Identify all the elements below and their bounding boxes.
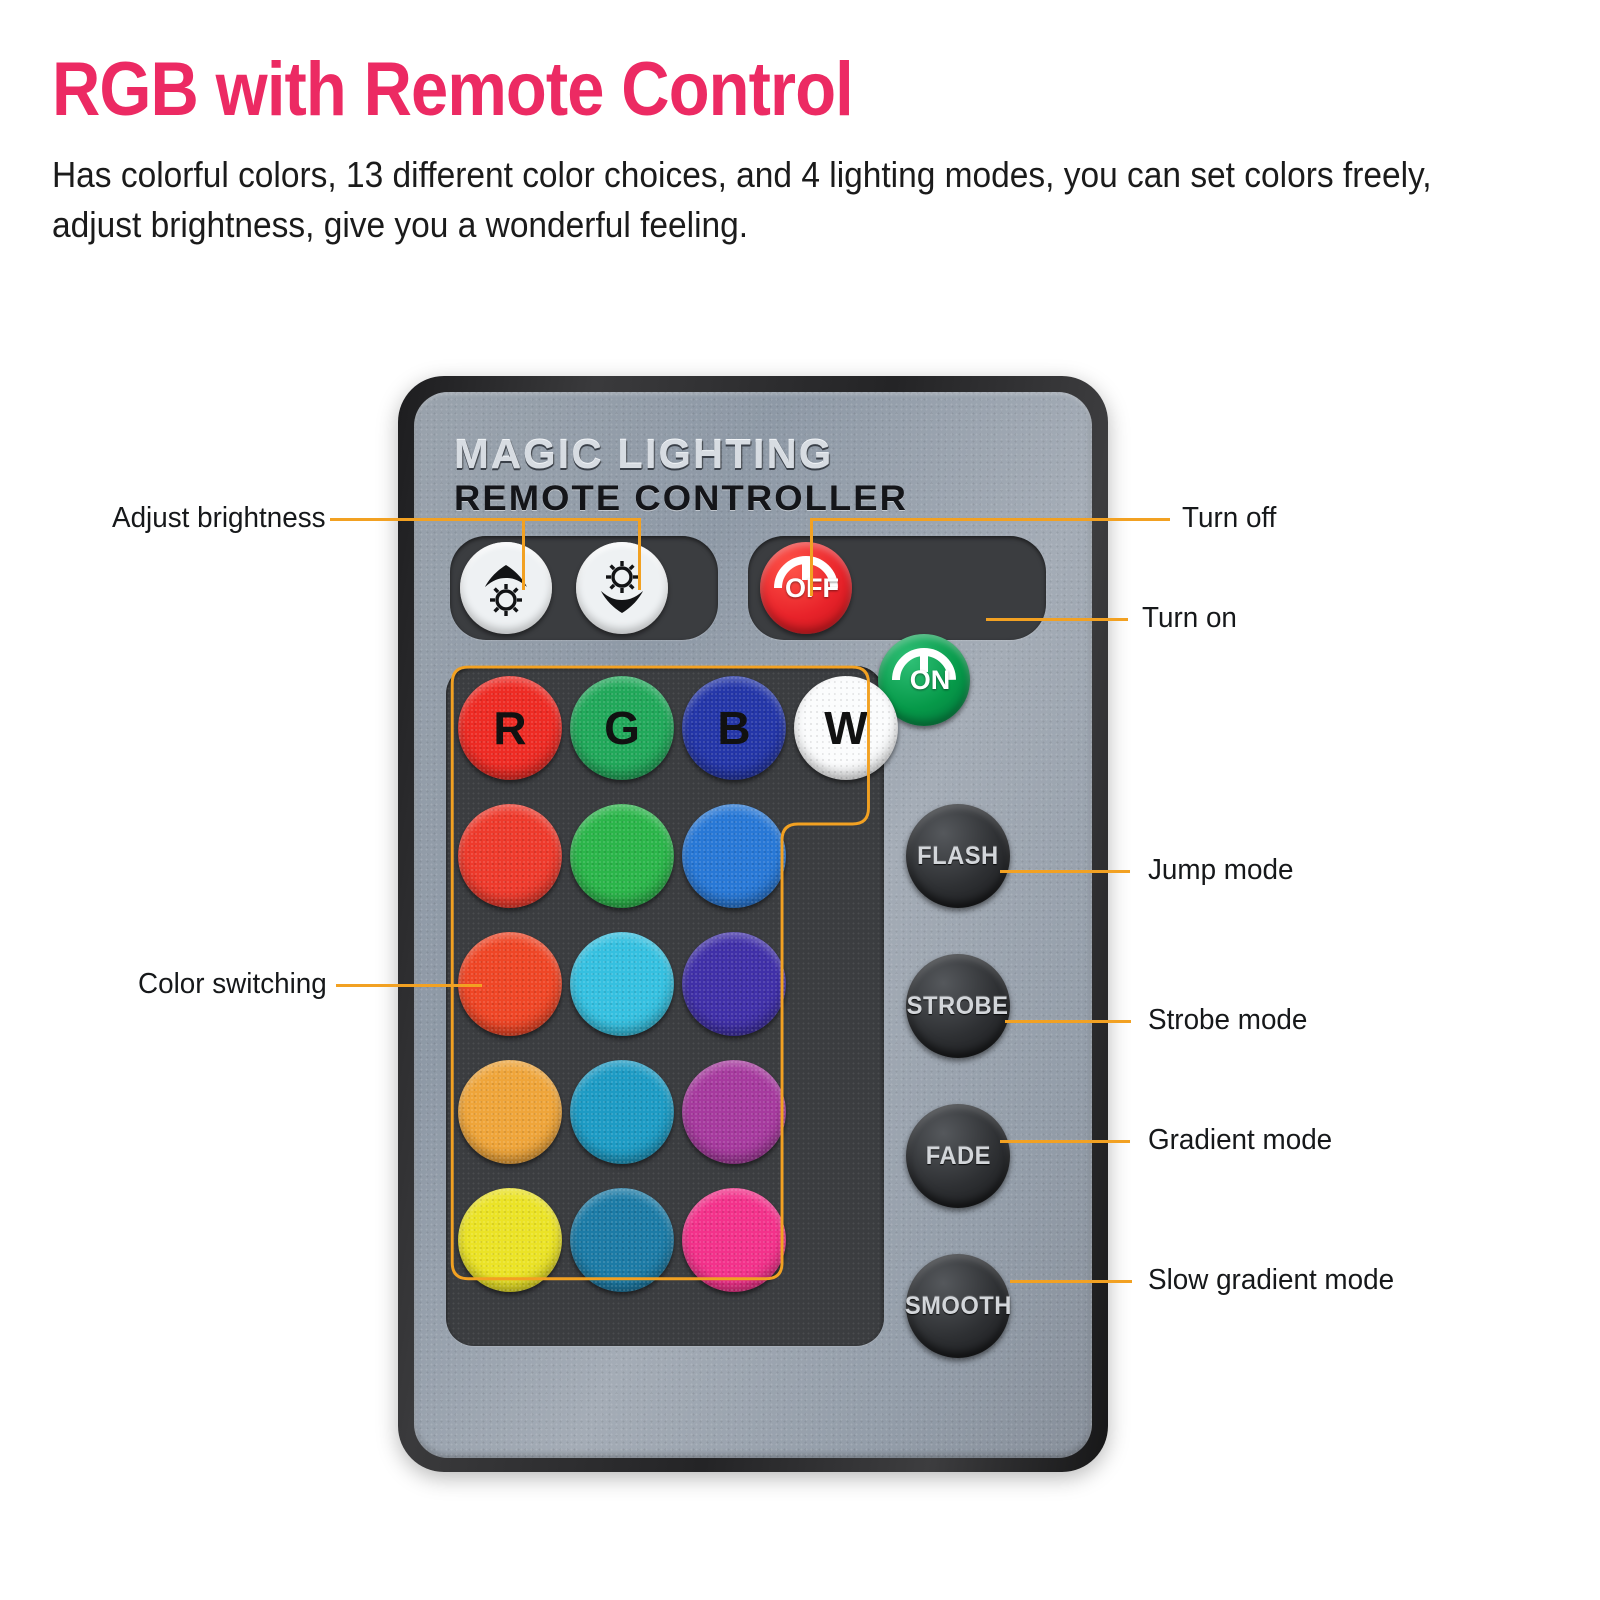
leader-adjust-brightness [330, 518, 640, 521]
annotation-strobe-mode: Strobe mode [1148, 1004, 1307, 1037]
mode-key-fade[interactable]: FADE [906, 1104, 1010, 1208]
remote-control-device: MAGIC LIGHTING REMOTE CONTROLLER [398, 376, 1108, 1472]
mode-key-strobe[interactable]: STROBE [906, 954, 1010, 1058]
mode-key-label: STROBE [907, 992, 1009, 1021]
power-off-button[interactable]: OFF [760, 542, 852, 634]
leader-slow-gradient-mode [1010, 1280, 1132, 1283]
leader-jump-mode [1000, 870, 1130, 873]
annotation-color-switching: Color switching [138, 968, 327, 1001]
mode-key-label: FLASH [917, 842, 999, 871]
brightness-down-button[interactable] [576, 542, 668, 634]
annotation-jump-mode: Jump mode [1148, 854, 1293, 887]
mode-key-label: FADE [925, 1142, 990, 1171]
leader-turn-off [810, 518, 1170, 521]
leader-turn-on [986, 618, 1128, 621]
brand-line-remote-controller: REMOTE CONTROLLER [454, 479, 908, 519]
header-block: RGB with Remote Control Has colorful col… [52, 48, 1532, 250]
annotation-adjust-brightness: Adjust brightness [112, 502, 326, 535]
leader-gradient-mode [1000, 1140, 1130, 1143]
leader-strobe-mode [1005, 1020, 1131, 1023]
annotation-turn-on: Turn on [1142, 602, 1237, 635]
brand-line-magic-lighting: MAGIC LIGHTING [454, 432, 899, 476]
page-subtitle: Has colorful colors, 13 different color … [52, 150, 1503, 250]
leader-adjust-brightness-drop1 [522, 518, 525, 590]
annotation-slow-gradient-mode: Slow gradient mode [1148, 1264, 1394, 1297]
annotation-gradient-mode: Gradient mode [1148, 1124, 1332, 1157]
brightness-up-button[interactable] [460, 542, 552, 634]
leader-turn-off-drop [810, 518, 813, 596]
brightness-up-icon [471, 553, 541, 623]
color-switching-highlight [434, 654, 886, 1286]
mode-key-flash[interactable]: FLASH [906, 804, 1010, 908]
mode-key-smooth[interactable]: SMOOTH [906, 1254, 1010, 1358]
mode-key-label: SMOOTH [904, 1292, 1011, 1321]
brightness-down-icon [587, 553, 657, 623]
leader-color-switching [336, 984, 482, 987]
power-on-label: ON [910, 665, 951, 696]
annotation-turn-off: Turn off [1182, 502, 1276, 535]
leader-adjust-brightness-drop2 [638, 518, 641, 590]
page-title: RGB with Remote Control [52, 48, 1354, 132]
remote-brand: MAGIC LIGHTING REMOTE CONTROLLER [454, 432, 890, 519]
